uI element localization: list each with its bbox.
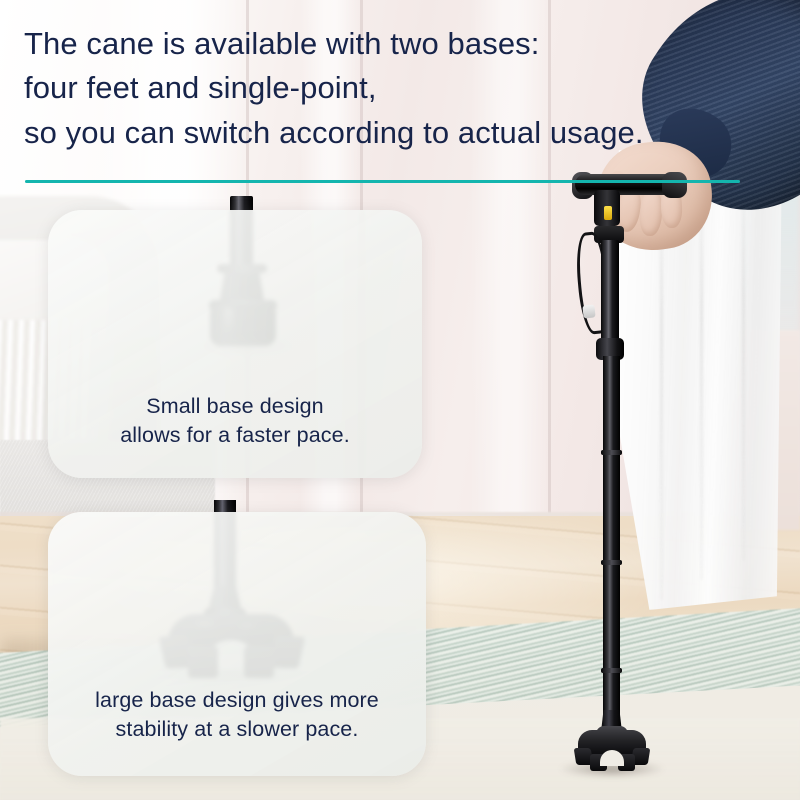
curtain-fold <box>742 160 745 560</box>
callout-card-small-base: Small base design allows for a faster pa… <box>48 210 422 478</box>
cane-handle-right-cap <box>662 172 687 198</box>
shaft-adjust-ring <box>601 560 622 565</box>
cane-upper-shaft <box>601 240 619 352</box>
callout-card-large-base: large base design gives more stability a… <box>48 512 426 776</box>
wrist-strap-bead <box>582 304 595 318</box>
cane-quad-base <box>572 726 652 772</box>
height-adjust-button-icon <box>604 206 612 220</box>
infographic-canvas: Small base design allows for a faster pa… <box>0 0 800 800</box>
card-caption-large-base: large base design gives more stability a… <box>48 686 426 743</box>
headline-text: The cane is available with two bases: fo… <box>24 22 764 155</box>
shaft-adjust-ring <box>601 668 622 673</box>
teal-divider-line <box>25 180 740 183</box>
shaft-adjust-ring <box>601 450 622 455</box>
card-caption-small-base: Small base design allows for a faster pa… <box>48 392 422 449</box>
